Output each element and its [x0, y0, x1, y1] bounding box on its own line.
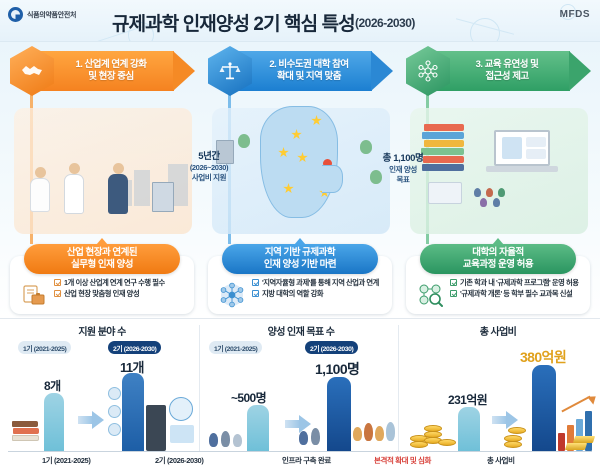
bar-phase1: [44, 393, 64, 451]
chart-tag-phase2: 2기 (2026-2030): [108, 341, 161, 354]
result-pill-region: 지역 기반 규제과학 인재 양성 기반 마련: [222, 244, 378, 274]
server-icon: [146, 405, 166, 451]
baseline-axis: [8, 451, 592, 452]
chart-title: 총 사업비: [400, 323, 596, 338]
banner-arrow-tip: [371, 51, 393, 91]
scientist-figure: [64, 163, 84, 214]
banner-label-1: 1. 산업계 연계 강화 및 현장 중심: [34, 51, 174, 91]
result-line-1: 산업 현장과 연계된: [67, 247, 137, 259]
banner-line-2: 접근성 제고: [485, 71, 528, 83]
document-briefcase-icon: [18, 280, 50, 310]
callout-tailline: 사업비 지원: [188, 173, 230, 183]
check-icon: [252, 290, 259, 297]
chart-title: 지원 분야 수: [4, 323, 200, 338]
coin-stack-phase1: [410, 419, 456, 451]
chart-tag-phase1: 1기 (2021-2025): [209, 341, 262, 354]
laptop-icon: [494, 130, 550, 166]
chart-tag-phase1: 1기 (2021-2025): [18, 341, 71, 354]
people-group-growth: [353, 419, 397, 451]
banner-arrow-1: 1. 산업계 연계 강화 및 현장 중심: [34, 51, 194, 91]
result-pill-industry: 산업 현장과 연계된 실무형 인재 양성: [24, 244, 180, 274]
banner-arrow-tip: [569, 51, 591, 91]
page-title-period: (2026-2030): [355, 16, 415, 30]
star-marker: [283, 183, 294, 194]
people-group-phase1: [209, 429, 249, 451]
star-marker: [297, 152, 308, 163]
bar-phase1: [458, 407, 480, 451]
ai-badge-icon: [169, 397, 193, 421]
banner-line-2: 및 현장 중심: [88, 71, 133, 83]
chart-value-phase1: ~500명: [231, 389, 266, 406]
result-panel-region: 지역 기반 규제과학 인재 양성 기반 마련: [208, 256, 392, 314]
callout-headline: 5년간: [188, 151, 230, 163]
infographic-page: 식품의약품안전처 규제과학 인재양성 2기 핵심 특성 (2026-2030) …: [0, 0, 600, 475]
callout-talent-goal: 총 1,100명 인재 양성 목표: [372, 148, 434, 190]
coin-stack-phase2: [504, 423, 534, 451]
banner-line-1: 1. 산업계 연계 강화: [75, 59, 146, 71]
bullet-text: '규제과학 개론' 등 학부 필수 교과목 신설: [460, 289, 572, 298]
chart-value-phase1: 231억원: [448, 391, 487, 408]
main-content: 1. 산업계 연계 강화 및 현장 중심: [0, 42, 600, 318]
tree-icon: [238, 134, 250, 148]
bullet-text: 1개 이상 산업계 연계 연구 수행 필수: [64, 278, 165, 287]
laptop-base: [486, 166, 558, 172]
bullet-item: 지방 대학의 역할 강화: [252, 289, 386, 298]
banner-line-2: 확대 및 지역 맞춤: [277, 71, 341, 83]
page-title: 규제과학 인재양성 2기 핵심 특성: [112, 9, 355, 36]
result-line-2: 교육과정 운영 허용: [463, 259, 533, 271]
banner-line-1: 3. 교육 유연성 및: [476, 59, 539, 71]
banner-arrow-2: 2. 비수도권 대학 참여 확대 및 지역 맞춤: [232, 51, 392, 91]
check-icon: [450, 279, 457, 286]
star-marker: [319, 187, 330, 198]
result-panel-industry: 산업 현장과 연계된 실무형 인재 양성 1개 이상 산업계: [10, 256, 194, 314]
star-marker: [278, 147, 289, 158]
callout-headline: 총 1,100명: [380, 153, 426, 165]
callout-funding-period: 5년간 (2026~2030) 사업비 지원: [180, 146, 238, 188]
network-hub-icon: [216, 280, 248, 310]
page-header: 식품의약품안전처 규제과학 인재양성 2기 핵심 특성 (2026-2030) …: [0, 0, 600, 42]
chart-total-budget: 총 사업비 231억원 380억원: [400, 319, 596, 476]
bullet-text: 지방 대학의 역할 강화: [262, 289, 323, 298]
chart-divider: [398, 325, 399, 451]
chart-value-phase1: 8개: [44, 377, 61, 394]
callout-tailline: 목표: [380, 175, 426, 185]
ai-chip-icon: [170, 425, 194, 443]
book-icon: [422, 132, 464, 139]
bullet-item: 1개 이상 산업계 연계 연구 수행 필수: [54, 278, 188, 287]
book-icon: [424, 124, 464, 131]
bullet-item: 산업 현장 맞춤형 인재 양성: [54, 289, 188, 298]
illustration-education: [408, 100, 590, 242]
classroom-icon: [472, 184, 518, 206]
agency-logo: 식품의약품안전처: [8, 7, 76, 22]
bullet-item: '지역자율형 과제'를 통해 지역 산업과 연계: [252, 278, 386, 287]
building-icon: [152, 182, 174, 212]
star-marker: [311, 115, 322, 126]
banner-label-2: 2. 비수도권 대학 참여 확대 및 지역 맞춤: [232, 51, 372, 91]
callout-subline: 인재 양성: [380, 165, 426, 175]
star-marker: [291, 129, 302, 140]
mfds-label: MFDS: [560, 9, 590, 20]
bullet-list-industry: 1개 이상 산업계 연계 연구 수행 필수 산업 현장 맞춤형 인재 양성: [54, 278, 188, 301]
check-icon: [450, 290, 457, 297]
comparison-charts: 지원 분야 수 1기 (2021-2025) 2기 (2026-2030) 8개…: [0, 318, 600, 475]
axis-label-infra: 인프라 구축 완료: [282, 455, 331, 466]
bullet-text: 기존 학과 내 '규제과학 프로그램' 운영 허용: [460, 278, 579, 287]
bullet-text: '지역자율형 과제'를 통해 지역 산업과 연계: [262, 278, 379, 287]
illustration-industry: [12, 100, 194, 242]
researcher-figure: [30, 167, 50, 212]
chart-support-fields: 지원 분야 수 1기 (2021-2025) 2기 (2026-2030) 8개…: [4, 319, 200, 476]
chart-value-phase2: 380억원: [520, 347, 566, 367]
growth-arrow-icon: [78, 411, 104, 429]
check-icon: [252, 279, 259, 286]
feature-column-industry: 1. 산업계 연계 강화 및 현장 중심: [4, 42, 200, 318]
result-line-2: 실무형 인재 양성: [71, 259, 133, 271]
bullet-list-region: '지역자율형 과제'를 통해 지역 산업과 연계 지방 대학의 역할 강화: [252, 278, 386, 301]
people-group-phase2: [299, 425, 325, 451]
banner-arrow-3: 3. 교육 유연성 및 접근성 제고: [430, 51, 590, 91]
axis-label-phase2: 2기 (2026-2030): [155, 455, 203, 466]
axis-label-phase1: 1기 (2021-2025): [42, 455, 90, 466]
agency-logo-label: 식품의약품안전처: [27, 10, 76, 20]
check-icon: [54, 279, 61, 286]
chart-tag-phase2: 2기 (2026-2030): [305, 341, 358, 354]
chart-talent-target: 양성 인재 목표 수 1기 (2021-2025) 2기 (2026-2030)…: [203, 319, 399, 476]
banner-label-3: 3. 교육 유연성 및 접근성 제고: [430, 51, 570, 91]
book-icon: [424, 140, 464, 147]
banner-line-1: 2. 비수도권 대학 참여: [269, 59, 348, 71]
bullet-item: 기존 학과 내 '규제과학 프로그램' 운영 허용: [450, 278, 584, 287]
result-pill-education: 대학의 자율적 교육과정 운영 허용: [420, 244, 576, 274]
result-panel-education: 대학의 자율적 교육과정 운영 허용: [406, 256, 590, 314]
result-line-2: 인재 양성 기반 마련: [264, 259, 336, 271]
result-line-1: 대학의 자율적: [472, 247, 524, 259]
bullet-item: '규제과학 개론' 등 학부 필수 교과목 신설: [450, 289, 584, 298]
axis-label-budget: 총 사업비: [487, 455, 515, 466]
books-icon: [12, 417, 42, 451]
magnifier-network-icon: [414, 280, 446, 310]
industry-partner-figure: [108, 163, 128, 214]
axis-label-expansion: 본격적 확대 및 심화: [374, 455, 431, 466]
tree-icon: [360, 140, 372, 154]
bar-phase1: [247, 405, 269, 451]
bar-phase2: [327, 377, 351, 451]
check-icon: [54, 290, 61, 297]
result-line-1: 지역 기반 규제과학: [265, 247, 335, 259]
taegeuk-logo-icon: [8, 7, 23, 22]
bar-phase2: [532, 365, 556, 451]
bullet-list-education: 기존 학과 내 '규제과학 프로그램' 운영 허용 '규제과학 개론' 등 학부…: [450, 278, 584, 301]
chart-value-phase2: 1,100명: [315, 359, 359, 379]
bullet-text: 산업 현장 맞춤형 인재 양성: [64, 289, 139, 298]
tech-icons-group: [108, 387, 122, 451]
callout-subline: (2026~2030): [188, 163, 230, 173]
location-pin-icon: [321, 157, 334, 170]
chart-title: 양성 인재 목표 수: [203, 323, 399, 338]
banner-arrow-tip: [173, 51, 195, 91]
chart-divider: [199, 325, 200, 451]
gold-bars-icon: [566, 435, 596, 451]
bar-phase2: [122, 373, 144, 451]
